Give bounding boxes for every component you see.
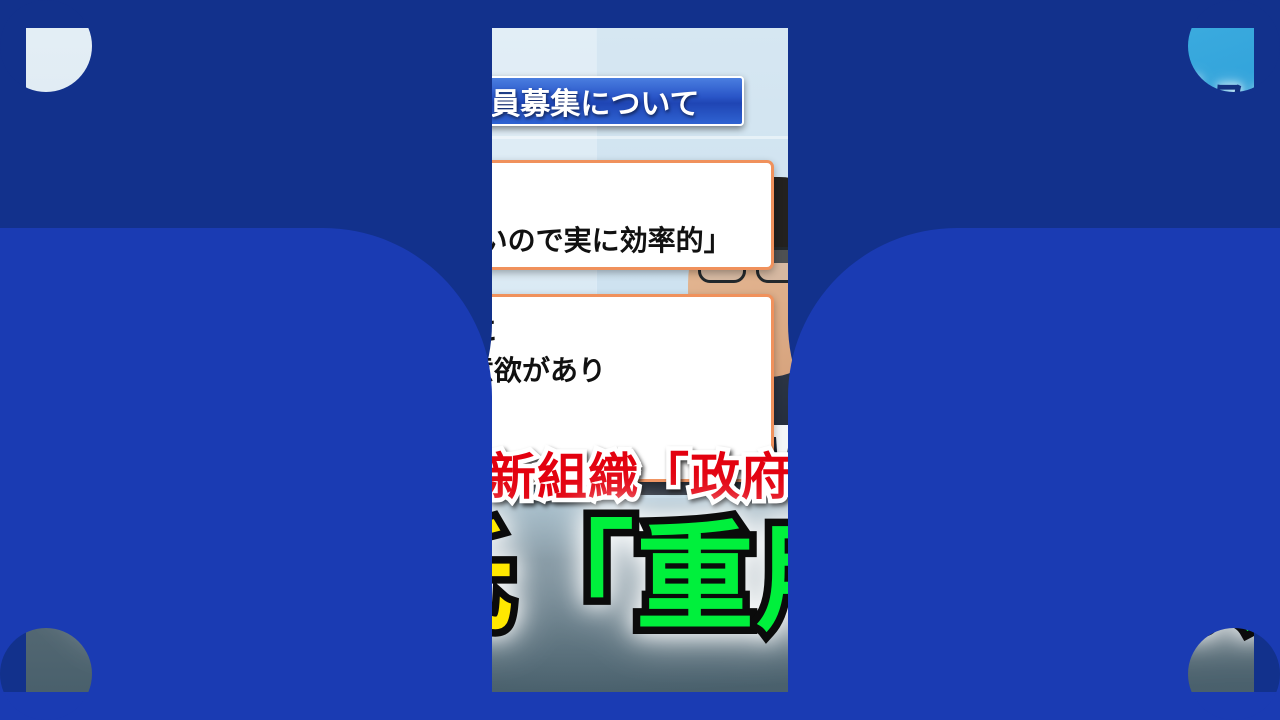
quote-2-line-2: 週80時間以上取り組む意欲があり [175, 349, 606, 389]
quote-1-source-label: マスク氏のX [47, 138, 180, 172]
lower-third-headline: マスク氏「重用」の行方 [36, 519, 1280, 637]
headline-part-1: マスク氏 [36, 509, 516, 647]
quote-1-line-2: 報酬を受け取っていないので実に効率的」 [201, 219, 732, 259]
live-badge: BSフジ LIVE [1024, 28, 1115, 49]
quote-1-line-1: 「私とラマスワミ氏は [185, 175, 465, 215]
live-label: LIVE [1076, 29, 1115, 48]
lower-third-kicker: 新組織「政府効率化省」とは [486, 437, 1149, 509]
quote-2-line-4: 高い知能指数(IQ)を持つ [175, 429, 487, 469]
frame-corner-top-left [0, 0, 46, 46]
headline-part-2: 「重用」の行方 [516, 509, 1280, 647]
panelist-center-mouth [964, 341, 1006, 357]
quote-1-source-chip: マスク氏のX (13日) [36, 138, 242, 172]
prime-news-e-swoosh-icon [892, 54, 990, 128]
frame-corner-bottom-left [0, 674, 46, 720]
topic-title-bar: 「政府効率化省」の職員募集について [146, 76, 744, 126]
elon-musk-photo [91, 171, 177, 263]
quote-2-source-label: 「政府効率化省」のX [47, 272, 272, 306]
broadcast-screen: プライムニュース BSフジ LIVE 「政府効率化省」の職員募集について 「私と… [0, 0, 1280, 720]
quote-panel-1: 「私とラマスワミ氏は 報酬を受け取っていないので実に効率的」 [78, 160, 774, 270]
quote-2-source-date: (14日) [272, 274, 322, 308]
quote-2-line-3: 小さな政府を目指す [175, 389, 427, 429]
topic-title-text: 「政府効率化省」の職員募集について [190, 79, 699, 123]
quote-2-line-1: 「地味なコスト削減作業に [161, 309, 497, 349]
frame-border-right [1254, 0, 1280, 720]
frame-border-top [0, 0, 1280, 28]
quote-1-source-date: (13日) [180, 140, 230, 174]
broadcaster-label: BSフジ [1025, 29, 1076, 48]
frame-corner-top-right [1234, 0, 1280, 46]
frame-corner-bottom-right [1234, 674, 1280, 720]
panelist-right-mouth [1122, 313, 1162, 337]
frame-border-left [0, 0, 26, 720]
quote-2-source-chip: 「政府効率化省」のX (14日) [36, 272, 334, 306]
frame-border-bottom [0, 692, 1280, 720]
